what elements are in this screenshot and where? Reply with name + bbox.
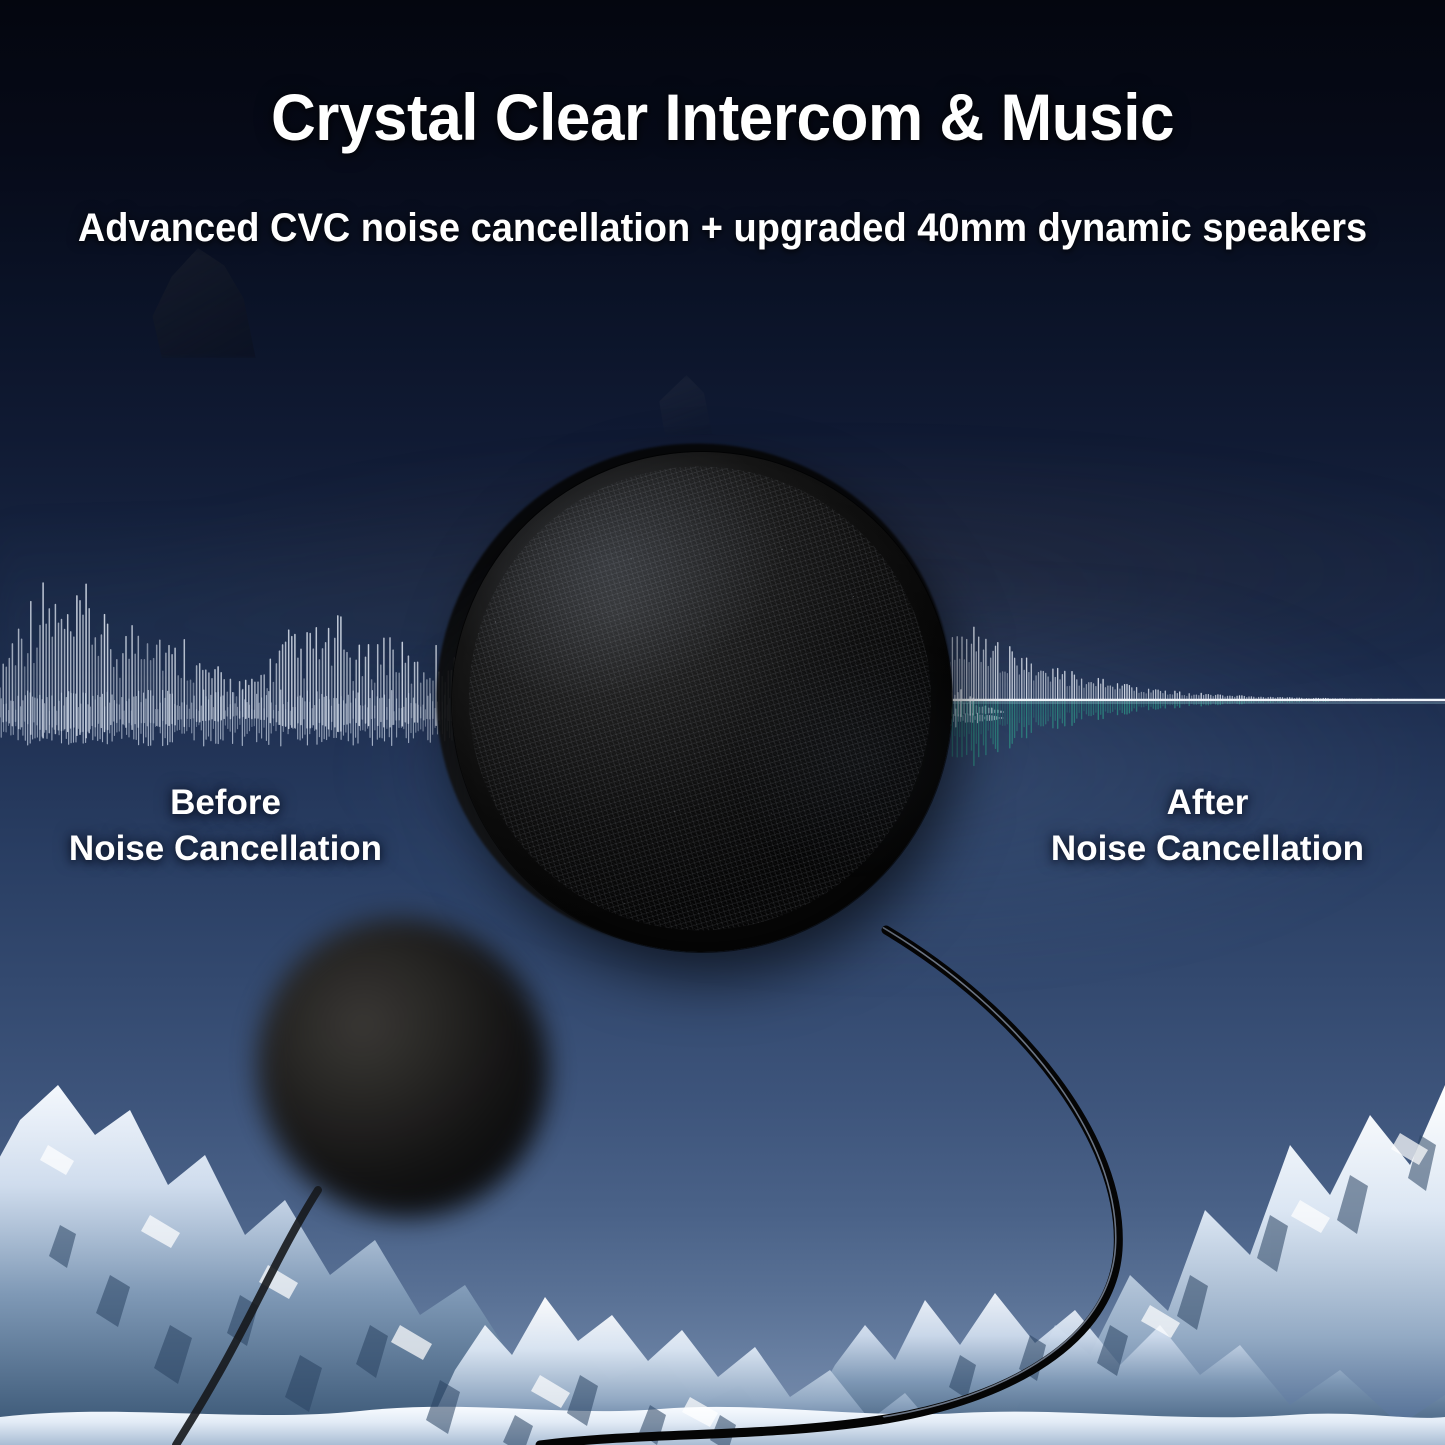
- page-subtitle: Advanced CVC noise cancellation + upgrad…: [36, 208, 1409, 248]
- label-before-noise-cancellation: Before Noise Cancellation: [18, 780, 433, 872]
- label-before-line1: Before: [170, 783, 281, 822]
- label-before-line2: Noise Cancellation: [18, 826, 433, 872]
- page-title: Crystal Clear Intercom & Music: [43, 84, 1401, 150]
- label-after-line2: Noise Cancellation: [1000, 826, 1415, 872]
- label-after-noise-cancellation: After Noise Cancellation: [1000, 780, 1415, 872]
- snow-mountains: [0, 1025, 1445, 1445]
- feature-banner: Crystal Clear Intercom & Music Advanced …: [0, 0, 1445, 1445]
- label-after-line1: After: [1167, 783, 1249, 822]
